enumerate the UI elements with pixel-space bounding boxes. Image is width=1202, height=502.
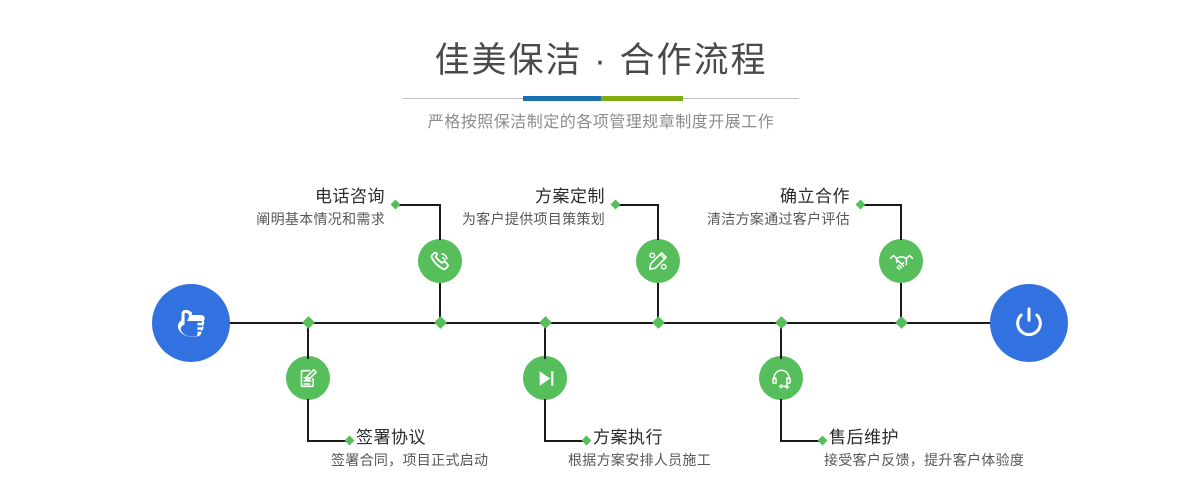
step-title-2: 签署协议 [356, 427, 586, 449]
step-marker-2 [345, 436, 355, 446]
step-stem-4-lower [544, 399, 546, 441]
step-title-1: 电话咨询 [185, 186, 385, 208]
step-stem-2-lower [307, 399, 309, 441]
step-elbow-5 [861, 204, 902, 206]
axis-diamond-4 [539, 316, 552, 329]
step-desc-2: 签署合同，项目正式启动 [331, 449, 586, 471]
step-stem-6-lower [780, 399, 782, 441]
play-next-icon [533, 366, 558, 391]
timeline-end-node[interactable] [990, 284, 1068, 362]
axis-diamond-5 [895, 316, 908, 329]
step-node-5[interactable] [879, 239, 923, 283]
step-node-4[interactable] [523, 356, 567, 400]
step-marker-1 [391, 200, 401, 210]
step-title-4: 方案执行 [593, 427, 823, 449]
handshake-icon [888, 248, 915, 275]
axis-diamond-1 [434, 316, 447, 329]
step-node-1[interactable] [418, 239, 462, 283]
axis-diamond-6 [775, 316, 788, 329]
step-stem-5-upper [900, 204, 902, 240]
pointing-hand-icon [170, 302, 212, 344]
step-desc-5: 清洁方案通过客户评估 [645, 208, 850, 230]
document-edit-icon [296, 366, 321, 391]
power-button-icon [1007, 301, 1051, 345]
step-desc-3: 为客户提供项目策策划 [400, 208, 605, 230]
phone-call-icon [427, 248, 453, 274]
step-label-2: 签署协议 签署合同，项目正式启动 [356, 427, 586, 471]
step-label-3: 方案定制 为客户提供项目策策划 [400, 186, 605, 230]
step-label-6: 售后维护 接受客户反馈，提升客户体验度 [829, 427, 1079, 471]
step-node-6[interactable] [759, 356, 803, 400]
step-desc-6: 接受客户反馈，提升客户体验度 [824, 449, 1079, 471]
axis-diamond-3 [652, 316, 665, 329]
step-title-3: 方案定制 [400, 186, 605, 208]
step-marker-3 [611, 200, 621, 210]
step-marker-5 [856, 200, 866, 210]
timeline-axis [160, 322, 1060, 324]
step-label-1: 电话咨询 阐明基本情况和需求 [185, 186, 385, 230]
step-node-2[interactable] [286, 356, 330, 400]
timeline: 电话咨询 阐明基本情况和需求 签署协议 签署合同，项目正式启动 [0, 0, 1202, 502]
headset-support-icon [769, 366, 794, 391]
step-label-5: 确立合作 清洁方案通过客户评估 [645, 186, 850, 230]
step-title-6: 售后维护 [829, 427, 1079, 449]
axis-diamond-2 [302, 316, 315, 329]
step-desc-1: 阐明基本情况和需求 [185, 208, 385, 230]
step-title-5: 确立合作 [645, 186, 850, 208]
process-flow-infographic: 佳美保洁 · 合作流程 严格按照保洁制定的各项管理规章制度开展工作 [0, 0, 1202, 502]
step-desc-4: 根据方案安排人员施工 [568, 449, 823, 471]
step-label-4: 方案执行 根据方案安排人员施工 [593, 427, 823, 471]
step-node-3[interactable] [636, 239, 680, 283]
timeline-start-node[interactable] [152, 284, 230, 362]
pencil-design-icon [645, 248, 671, 274]
